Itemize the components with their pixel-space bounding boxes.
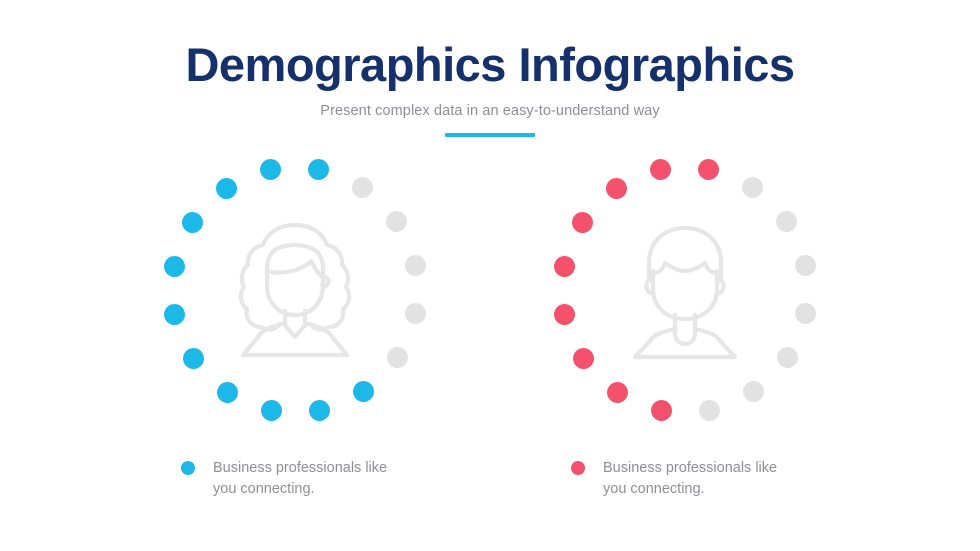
ring-dot-filled [650, 159, 671, 180]
ring-dot-empty [405, 303, 426, 324]
man-icon [619, 219, 751, 361]
ring-dot-empty [352, 177, 373, 198]
ring-dot-filled [164, 256, 185, 277]
legend-female: Business professionals like you connecti… [181, 458, 403, 500]
ring-dot-empty [387, 347, 408, 368]
ring-dot-empty [405, 255, 426, 276]
ring-dot-filled [651, 400, 672, 421]
ring-dot-filled [572, 212, 593, 233]
ring-dot-empty [743, 381, 764, 402]
legend-dot-pink [571, 461, 585, 475]
slide-canvas: Demographics Infographics Present comple… [0, 0, 980, 551]
ring-dot-filled [164, 304, 185, 325]
legend-label-female: Business professionals like you connecti… [213, 458, 403, 500]
dot-ring-female [157, 152, 433, 428]
legend-male: Business professionals like you connecti… [571, 458, 793, 500]
ring-dot-filled [217, 382, 238, 403]
ring-dot-filled [698, 159, 719, 180]
ring-dot-filled [554, 304, 575, 325]
legend-dot-cyan [181, 461, 195, 475]
accent-divider [445, 133, 535, 137]
ring-dot-filled [261, 400, 282, 421]
ring-dot-empty [777, 347, 798, 368]
ring-dot-filled [607, 382, 628, 403]
ring-dot-filled [183, 348, 204, 369]
panels-container: Business professionals like you connecti… [0, 152, 980, 500]
ring-dot-empty [386, 211, 407, 232]
page-title: Demographics Infographics [0, 40, 980, 89]
ring-dot-empty [795, 255, 816, 276]
ring-dot-filled [308, 159, 329, 180]
panel-female: Business professionals like you connecti… [100, 152, 490, 500]
legend-label-male: Business professionals like you connecti… [603, 458, 793, 500]
ring-dot-filled [260, 159, 281, 180]
ring-dot-filled [573, 348, 594, 369]
ring-dot-filled [216, 178, 237, 199]
header: Demographics Infographics Present comple… [0, 40, 980, 137]
ring-dot-filled [353, 381, 374, 402]
dot-ring-male [547, 152, 823, 428]
panel-male: Business professionals like you connecti… [490, 152, 880, 500]
ring-dot-filled [606, 178, 627, 199]
ring-dot-empty [776, 211, 797, 232]
page-subtitle: Present complex data in an easy-to-under… [0, 103, 980, 119]
ring-dot-empty [795, 303, 816, 324]
ring-dot-empty [699, 400, 720, 421]
ring-dot-filled [554, 256, 575, 277]
ring-dot-filled [182, 212, 203, 233]
woman-icon [229, 219, 361, 361]
ring-dot-empty [742, 177, 763, 198]
ring-dot-filled [309, 400, 330, 421]
